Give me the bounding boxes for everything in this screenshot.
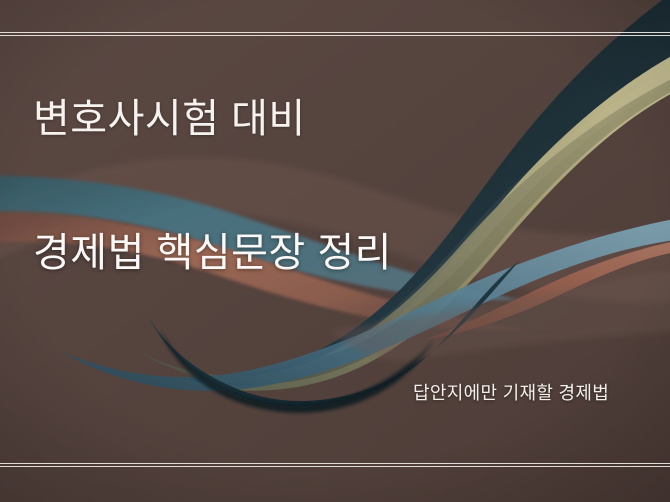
- presentation-slide: 변호사시험 대비 경제법 핵심문장 정리 답안지에만 기재할 경제법: [0, 0, 670, 502]
- title-block: 변호사시험 대비 경제법 핵심문장 정리: [33, 98, 633, 141]
- top-divider-line-lower: [0, 35, 670, 36]
- slide-title-line-2: 경제법 핵심문장 정리: [33, 232, 392, 275]
- slide-subtitle: 답안지에만 기재할 경제법: [413, 383, 609, 405]
- bottom-divider-line-upper: [0, 463, 670, 464]
- slide-title-line-1: 변호사시험 대비: [33, 98, 633, 141]
- bottom-divider-line-lower: [0, 466, 670, 467]
- top-divider-line-upper: [0, 32, 670, 33]
